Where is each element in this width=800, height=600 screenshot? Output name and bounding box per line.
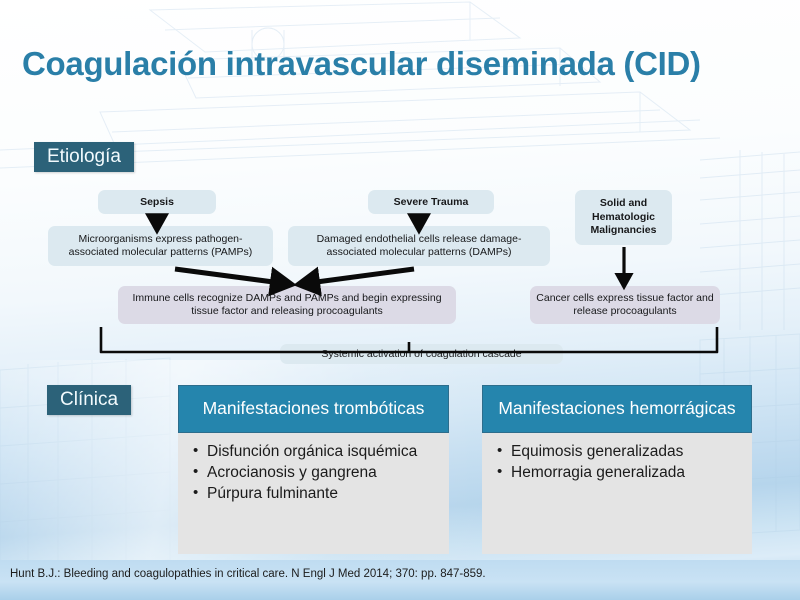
- flowchart-connectors: [0, 0, 800, 380]
- card-header-trombotica: Manifestaciones trombóticas: [178, 385, 449, 433]
- list-item: Hemorragia generalizada: [511, 463, 742, 483]
- list-item: Equimosis generalizadas: [511, 442, 742, 462]
- clinical-card-trombotica: Manifestaciones trombóticas Disfunción o…: [178, 385, 449, 554]
- card-body-trombotica: Disfunción orgánica isquémica Acrocianos…: [178, 433, 449, 554]
- list-item: Acrocianosis y gangrena: [207, 463, 439, 483]
- bullet-list-hemorragica: Equimosis generalizadas Hemorragia gener…: [494, 442, 742, 483]
- clinical-card-hemorragica: Manifestaciones hemorrágicas Equimosis g…: [482, 385, 752, 554]
- list-item: Púrpura fulminante: [207, 484, 439, 504]
- slide-canvas: Coagulación intravascular diseminada (CI…: [0, 0, 800, 600]
- section-tag-clinica: Clínica: [47, 385, 131, 415]
- card-header-hemorragica: Manifestaciones hemorrágicas: [482, 385, 752, 433]
- list-item: Disfunción orgánica isquémica: [207, 442, 439, 462]
- footer-band: [0, 560, 800, 600]
- arrow-pamps-to-immune: [175, 269, 281, 283]
- arrow-damps-to-immune: [309, 269, 414, 283]
- citation-text: Hunt B.J.: Bleeding and coagulopathies i…: [10, 568, 486, 580]
- bullet-list-trombotica: Disfunción orgánica isquémica Acrocianos…: [190, 442, 439, 504]
- etiology-flowchart: Sepsis Severe Trauma Solid and Hematolog…: [0, 0, 800, 380]
- card-body-hemorragica: Equimosis generalizadas Hemorragia gener…: [482, 433, 752, 554]
